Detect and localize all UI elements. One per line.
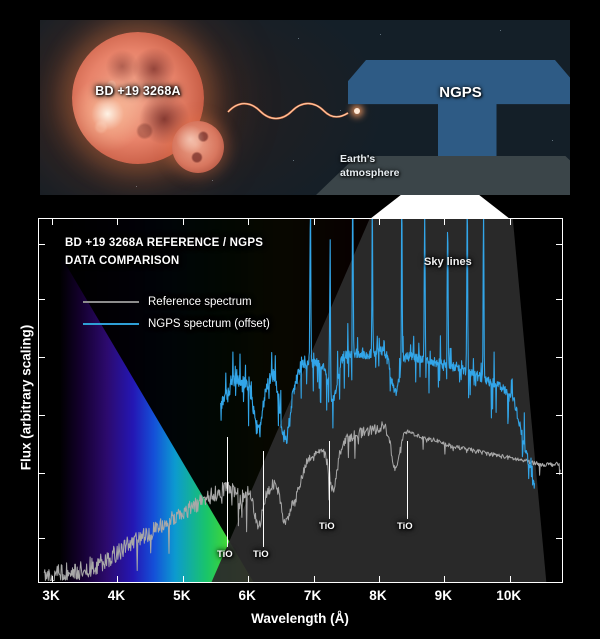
legend-item-reference: Reference spectrum	[83, 291, 270, 313]
hero-illustration: BD +19 3268A NGPS Earth's atmosphere	[40, 20, 570, 195]
plot-legend: Reference spectrum NGPS spectrum (offset…	[83, 291, 270, 335]
plot-title-line1: BD +19 3268A REFERENCE / NGPS	[65, 235, 263, 253]
earths-atmosphere-label: Earth's atmosphere	[340, 152, 400, 180]
x-tick-label: 6K	[239, 588, 256, 603]
x-tick-label: 8K	[369, 588, 386, 603]
y-axis-tick	[39, 244, 45, 245]
x-axis-tick	[444, 219, 445, 225]
light-beam	[370, 195, 510, 219]
tio-label-3: TiO	[319, 521, 335, 532]
y-axis-tick	[556, 357, 562, 358]
star-label: BD +19 3268A	[72, 84, 204, 98]
y-axis-tick	[39, 473, 45, 474]
atmosphere-label-line1: Earth's	[340, 152, 400, 166]
spectra-traces	[39, 219, 562, 582]
tio-label-4: TiO	[397, 521, 413, 532]
x-axis-tick	[52, 219, 53, 225]
ngps-label: NGPS	[348, 84, 570, 101]
x-axis-tick	[379, 219, 380, 225]
x-axis-tick	[117, 219, 118, 225]
legend-item-ngps: NGPS spectrum (offset)	[83, 313, 270, 335]
y-axis-tick	[556, 473, 562, 474]
y-axis-tick	[39, 538, 45, 539]
plot-title-line2: DATA COMPARISON	[65, 253, 263, 271]
x-tick-label: 3K	[42, 588, 59, 603]
ngps-spectrum-trace	[221, 218, 535, 488]
x-axis-title: Wavelength (Å)	[0, 611, 600, 626]
y-axis-tick	[556, 244, 562, 245]
tio-leader-line-4	[407, 441, 408, 519]
y-axis-tick	[39, 299, 45, 300]
tio-leader-line-1	[227, 437, 228, 547]
y-axis-tick	[556, 538, 562, 539]
x-tick-label: 7K	[304, 588, 321, 603]
x-axis-tick	[510, 219, 511, 225]
x-axis-tick	[510, 576, 511, 582]
y-axis-tick	[556, 299, 562, 300]
x-axis-tick	[444, 576, 445, 582]
x-axis-tick	[183, 576, 184, 582]
legend-label-reference: Reference spectrum	[148, 296, 252, 308]
x-tick-label: 10K	[496, 588, 521, 603]
y-axis-tick	[39, 357, 45, 358]
atmosphere-label-line2: atmosphere	[340, 166, 400, 180]
reference-spectrum-trace	[44, 422, 560, 581]
x-axis-tick	[248, 576, 249, 582]
x-tick-label: 5K	[173, 588, 190, 603]
tio-label-1: TiO	[217, 549, 233, 560]
spectrum-plot: BD +19 3268A REFERENCE / NGPS DATA COMPA…	[38, 218, 563, 583]
x-axis-tick	[117, 576, 118, 582]
x-tick-label: 4K	[108, 588, 125, 603]
x-axis-tick	[379, 576, 380, 582]
sky-lines-annotation: Sky lines	[424, 256, 472, 268]
companion-star	[172, 121, 224, 173]
x-axis-tick	[52, 576, 53, 582]
x-tick-label: 9K	[435, 588, 452, 603]
y-axis-tick	[39, 415, 45, 416]
y-axis-title: Flux (arbitrary scaling)	[19, 278, 34, 518]
legend-label-ngps: NGPS spectrum (offset)	[148, 318, 270, 330]
plot-title: BD +19 3268A REFERENCE / NGPS DATA COMPA…	[65, 235, 263, 271]
legend-swatch-ngps	[83, 323, 139, 325]
y-axis-tick	[556, 415, 562, 416]
tio-leader-line-2	[263, 451, 264, 547]
tio-leader-line-3	[329, 441, 330, 519]
photon-dot-icon	[354, 108, 360, 114]
x-tick-labels: 3K4K5K6K7K8K9K10K	[38, 588, 563, 608]
x-axis-tick	[314, 219, 315, 225]
x-axis-tick	[314, 576, 315, 582]
legend-swatch-reference	[83, 301, 139, 303]
x-axis-tick	[248, 219, 249, 225]
x-axis-tick	[183, 219, 184, 225]
tio-label-2: TiO	[253, 549, 269, 560]
photon-wave-icon	[228, 98, 358, 124]
